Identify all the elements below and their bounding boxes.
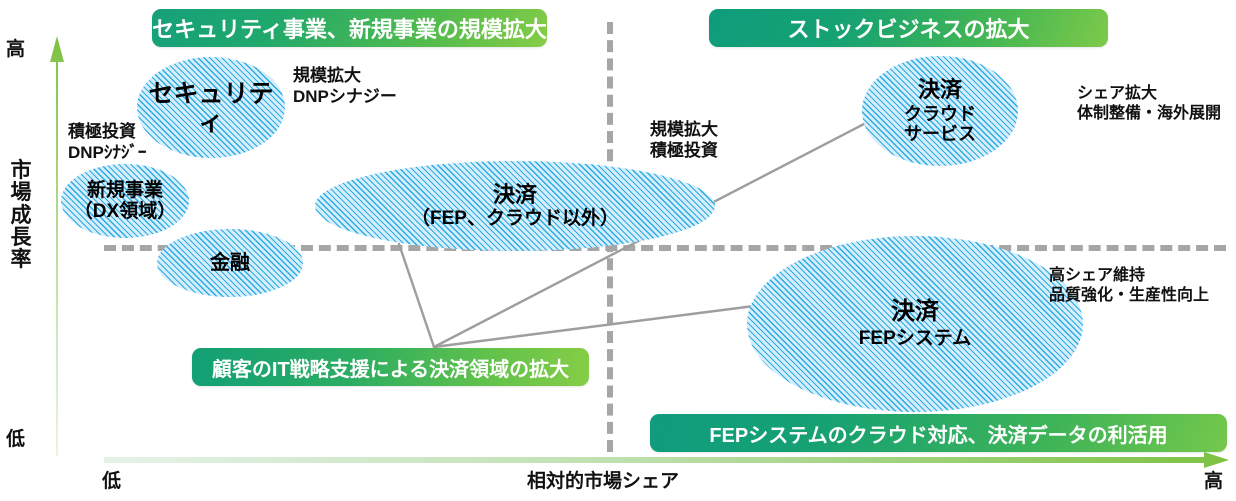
bubble-settlement-fep-title: 決済 <box>859 299 971 326</box>
connector-to-settlement <box>399 244 434 347</box>
bubble-security[interactable]: セキュリティ <box>137 57 285 158</box>
banner-security-new-business-label: セキュリティ事業、新規事業の規模拡大 <box>152 12 547 44</box>
y-axis-low-label: 低 <box>6 424 25 451</box>
x-axis-high-label: 高 <box>1204 466 1223 493</box>
note-scale-investment: 規模拡大 積極投資 <box>650 120 718 161</box>
connector-to-fep <box>434 306 754 347</box>
bubble-new-business-label: 新規事業 （DX領域） <box>74 180 176 223</box>
banner-security-new-business[interactable]: セキュリティ事業、新規事業の規模拡大 <box>152 9 547 47</box>
x-axis-title: 相対的市場シェア <box>527 466 679 493</box>
bubble-settlement-cloud-label: 決済 クラウド サービス <box>904 78 976 144</box>
note-share-expansion: シェア拡大 体制整備・海外展開 <box>1077 84 1221 123</box>
bubble-settlement-fep-sub: FEPシステム <box>859 328 971 349</box>
bubble-settlement-fep[interactable]: 決済 FEPシステム <box>747 236 1083 412</box>
ppm-matrix-chart: 高 低 低 高 市場成長率 相対的市場シェア セキュリティ 新規事業 （DX領域… <box>0 0 1236 501</box>
bubble-settlement-other-sub: （FEP、クラウド以外） <box>411 208 619 229</box>
banner-fep-cloud[interactable]: FEPシステムのクラウド対応、決済データの利活用 <box>650 414 1227 452</box>
y-axis-title: 市場成長率 <box>8 160 34 271</box>
banner-stock-business-label: ストックビジネスの拡大 <box>787 12 1029 44</box>
x-axis-low-label: 低 <box>102 466 121 493</box>
bubble-settlement-cloud[interactable]: 決済 クラウド サービス <box>862 56 1018 166</box>
y-axis-arrow <box>50 36 64 456</box>
bubble-finance[interactable]: 金融 <box>157 229 303 297</box>
bubble-security-title: セキュリティ <box>137 80 285 136</box>
bubble-settlement-fep-label: 決済 FEPシステム <box>859 299 971 349</box>
bubble-finance-title: 金融 <box>210 252 250 274</box>
bubble-settlement-other-label: 決済 （FEP、クラウド以外） <box>411 183 619 230</box>
y-axis-high-label: 高 <box>6 34 25 61</box>
note-aggressive-investment: 積極投資 DNPｼﾅｼﾞｰ <box>68 122 146 163</box>
bubble-new-business-sub: （DX領域） <box>74 201 176 222</box>
bubble-security-label: セキュリティ <box>137 80 285 136</box>
banner-fep-cloud-label: FEPシステムのクラウド対応、決済データの利活用 <box>709 419 1167 448</box>
bubble-settlement-other[interactable]: 決済 （FEP、クラウド以外） <box>315 161 715 251</box>
bubble-new-business[interactable]: 新規事業 （DX領域） <box>61 164 189 238</box>
bubble-settlement-other-title: 決済 <box>411 183 619 208</box>
bubble-new-business-title: 新規事業 <box>74 180 176 201</box>
note-high-share-retention: 高シェア維持 品質強化・生産性向上 <box>1049 266 1209 305</box>
bubble-settlement-cloud-sub: クラウド サービス <box>904 104 976 144</box>
bubble-settlement-cloud-title: 決済 <box>904 78 976 103</box>
banner-it-strategy-support-label: 顧客のIT戦略支援による決済領域の拡大 <box>212 353 569 382</box>
banner-stock-business[interactable]: ストックビジネスの拡大 <box>709 9 1108 47</box>
banner-it-strategy-support[interactable]: 顧客のIT戦略支援による決済領域の拡大 <box>192 348 589 386</box>
bubble-finance-label: 金融 <box>210 252 250 274</box>
note-scale-dnp-synergy: 規模拡大 DNPシナジー <box>293 66 397 107</box>
